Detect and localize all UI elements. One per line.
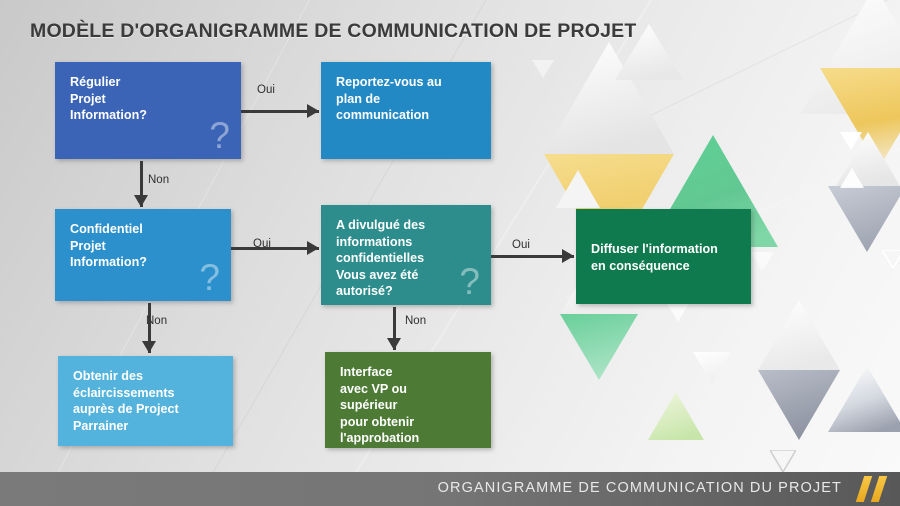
decorative-triangle-outline-up-small bbox=[840, 168, 864, 188]
decorative-triangle-white-down-small bbox=[750, 252, 772, 275]
decorative-triangle-silver-up bbox=[828, 366, 900, 432]
node-disclosed-confidential-authorized[interactable]: A divulgué des informations confidentiel… bbox=[321, 205, 491, 305]
accent-slash-icon bbox=[856, 476, 872, 502]
decorative-triangle-white-up bbox=[544, 42, 674, 154]
decorative-triangle-green-down bbox=[560, 314, 638, 380]
node-diffuser-information[interactable]: Diffuser l'information en conséquence bbox=[576, 209, 751, 304]
decorative-triangle-white-down-small bbox=[840, 132, 862, 150]
arrow-confidential-to-disclosed bbox=[231, 240, 319, 255]
arrow-regular-to-refer bbox=[241, 103, 319, 118]
slide-canvas: MODÈLE D'ORGANIGRAMME DE COMMUNICATION D… bbox=[0, 0, 900, 506]
node-label: A divulgué des informations confidentiel… bbox=[336, 217, 477, 300]
edge-label-regular-no: Non bbox=[148, 174, 169, 186]
node-label: Confidentiel Projet Information? bbox=[70, 221, 217, 271]
edge-label-confidential-yes: Oui bbox=[253, 238, 271, 250]
arrow-confidential-to-obtenir bbox=[141, 303, 156, 353]
decorative-triangle-outline-down-small bbox=[752, 252, 774, 270]
decorative-triangle-silver-down bbox=[828, 186, 900, 252]
background-streak bbox=[640, 0, 900, 121]
edge-label-disclosed-yes: Oui bbox=[512, 239, 530, 251]
footer-bar: ORGANIGRAMME DE COMMUNICATION DU PROJET bbox=[0, 472, 900, 506]
node-regular-project-information[interactable]: Régulier Projet Information? ? bbox=[55, 62, 241, 159]
decorative-triangle-white-up bbox=[836, 132, 900, 186]
arrow-disclosed-to-diffuser bbox=[491, 248, 574, 263]
edge-label-confidential-no: Non bbox=[146, 315, 167, 327]
node-obtenir-eclaircissements[interactable]: Obtenir des éclaircissements auprès de P… bbox=[58, 356, 233, 446]
node-refer-to-communication-plan[interactable]: Reportez-vous au plan de communication bbox=[321, 62, 491, 159]
node-confidential-project-information[interactable]: Confidentiel Projet Information? ? bbox=[55, 209, 231, 301]
decorative-triangle-lightgreen-up bbox=[648, 392, 704, 440]
node-label: Reportez-vous au plan de communication bbox=[336, 74, 477, 124]
arrow-disclosed-to-interface bbox=[386, 307, 401, 350]
decorative-triangle-yellow-down bbox=[820, 68, 900, 168]
decorative-triangle-outline-down-small bbox=[770, 450, 796, 472]
node-label: Obtenir des éclaircissements auprès de P… bbox=[73, 368, 219, 434]
decorative-triangle-white-up bbox=[556, 170, 600, 208]
decorative-triangle-white-up bbox=[800, 0, 900, 114]
edge-label-regular-yes: Oui bbox=[257, 84, 275, 96]
edge-label-disclosed-no: Non bbox=[405, 315, 426, 327]
node-interface-vp-approbation[interactable]: Interface avec VP ou supérieur pour obte… bbox=[325, 352, 491, 448]
decorative-triangle-white-up bbox=[758, 300, 840, 370]
decorative-triangle-white-down-small bbox=[532, 60, 554, 78]
decorative-triangle-white-down bbox=[693, 352, 731, 384]
accent-slash-icon bbox=[871, 476, 887, 502]
arrow-regular-to-confidential bbox=[133, 161, 148, 207]
node-label: Interface avec VP ou supérieur pour obte… bbox=[340, 364, 477, 447]
decorative-triangle-outline-down-small bbox=[882, 250, 900, 268]
node-label: Régulier Projet Information? bbox=[70, 74, 227, 124]
footer-title: ORGANIGRAMME DE COMMUNICATION DU PROJET bbox=[438, 480, 842, 496]
node-label: Diffuser l'information en conséquence bbox=[591, 241, 718, 274]
decorative-triangle-silver-down bbox=[758, 370, 840, 440]
page-title: MODÈLE D'ORGANIGRAMME DE COMMUNICATION D… bbox=[30, 20, 636, 43]
